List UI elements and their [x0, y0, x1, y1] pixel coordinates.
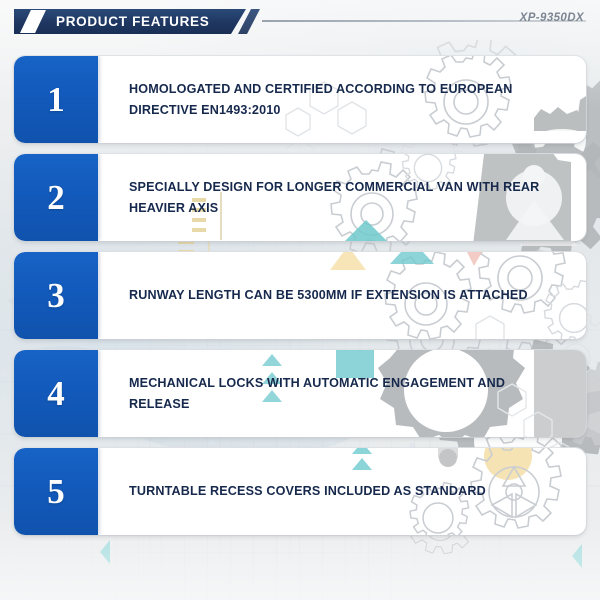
page-title: PRODUCT FEATURES	[56, 9, 209, 34]
feature-number-badge: 2	[14, 154, 98, 241]
feature-number: 4	[47, 376, 65, 411]
model-number: XP-9350DX	[520, 12, 584, 24]
feature-text: MECHANICAL LOCKS WITH AUTOMATIC ENGAGEME…	[98, 350, 586, 437]
feature-number-badge: 1	[14, 56, 98, 143]
feature-number: 5	[47, 474, 65, 509]
list-item[interactable]: 5 TURNTABLE RECESS COVERS INCLUDED AS ST…	[14, 448, 586, 535]
feature-number-badge: 3	[14, 252, 98, 339]
product-features-page: PRODUCT FEATURES XP-9350DX	[0, 0, 600, 600]
feature-number: 2	[47, 180, 65, 215]
list-item[interactable]: 1 HOMOLOGATED AND CERTIFIED ACCORDING TO…	[14, 56, 586, 143]
feature-number-badge: 4	[14, 350, 98, 437]
list-item[interactable]: 4 MECHANICAL LOCKS WITH AUTOMATIC ENGAGE…	[14, 350, 586, 437]
feature-number-badge: 5	[14, 448, 98, 535]
feature-text: TURNTABLE RECESS COVERS INCLUDED AS STAN…	[98, 448, 586, 535]
feature-text: SPECIALLY DESIGN FOR LONGER COMMERCIAL V…	[98, 154, 586, 241]
list-item[interactable]: 2 SPECIALLY DESIGN FOR LONGER COMMERCIAL…	[14, 154, 586, 241]
feature-number: 3	[47, 278, 65, 313]
feature-text: HOMOLOGATED AND CERTIFIED ACCORDING TO E…	[98, 56, 586, 143]
feature-number: 1	[47, 82, 65, 117]
page-header: PRODUCT FEATURES XP-9350DX	[0, 0, 600, 46]
feature-list: 1 HOMOLOGATED AND CERTIFIED ACCORDING TO…	[0, 56, 600, 546]
list-item[interactable]: 3 RUNWAY LENGTH CAN BE 5300MM IF EXTENSI…	[14, 252, 586, 339]
feature-text: RUNWAY LENGTH CAN BE 5300MM IF EXTENSION…	[98, 252, 586, 339]
